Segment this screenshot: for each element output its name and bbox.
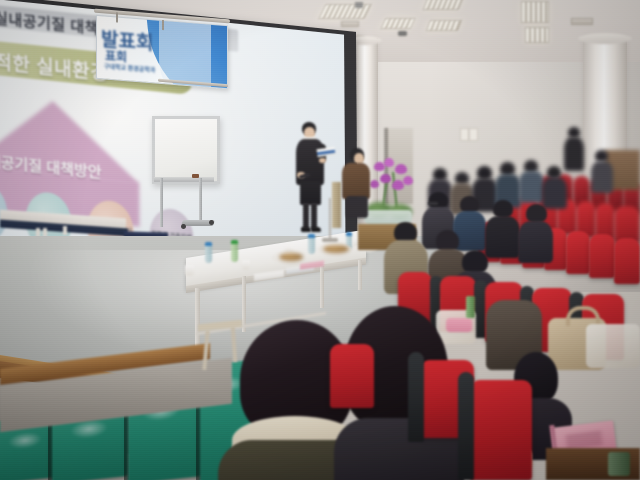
whiteboard-surface[interactable] [152,116,220,184]
plastic-bag[interactable] [586,324,640,368]
light-switch-plate[interactable] [469,128,478,141]
orchid-bloom [395,164,407,174]
column-capital [578,33,632,44]
paper-cup[interactable] [185,265,194,276]
mobile-whiteboard[interactable] [152,116,224,228]
audience-member [520,160,544,206]
paper-cup[interactable] [242,260,250,270]
photograph-auditorium-seminar: 실내공기질 대책방안 쾌적한 실내환경 실내공기질 대책방안 흡연구역 분리설치… [0,0,640,480]
seat-red[interactable] [589,234,615,278]
mic-stand [329,198,331,240]
audience-member [520,204,552,262]
torso [564,137,584,171]
whiteboard-marker-tray [154,177,214,182]
presenter-shoe [301,227,311,232]
whiteboard-caster-icon [181,224,186,229]
ceiling-light-icon [381,18,416,29]
banner-tie-left [116,12,118,22]
wall-bottle-item [63,226,67,235]
orchid-bloom [403,176,413,185]
assistant-coat [342,163,370,199]
ceiling-light-icon [525,27,549,43]
orchid-bloom [380,174,391,183]
table-leg [358,260,362,290]
seat-back-panel [458,372,474,480]
banner-line3-text: 구대학교 환경공학과 [104,61,155,74]
whiteboard-marker[interactable] [192,174,199,178]
water-bottle[interactable] [231,240,238,262]
ceiling-light-icon [521,1,549,23]
event-banner: 발표회 표회 구대학교 환경공학과 [96,13,228,97]
ceiling-mount-icon [355,2,363,8]
ceiling-light-icon [423,0,464,10]
banner-tie-right [162,20,164,30]
audience-member [592,150,614,196]
presenter-hand [319,158,326,163]
ceiling-vent-icon [571,18,593,25]
food-items [279,253,303,261]
light-switch-plate[interactable] [460,128,469,141]
torso [518,221,553,263]
orchid-bloom [384,158,394,167]
seat-red[interactable] [470,380,532,480]
seated-assistant [338,148,378,230]
banner-swoosh-graphic [159,15,211,89]
torso [591,161,613,193]
audience-member [566,127,584,177]
water-bottle[interactable] [205,242,212,263]
whiteboard-leg [160,178,163,227]
whiteboard-leg [199,178,202,222]
handbag-strap [566,306,600,326]
drink-can[interactable] [608,452,630,476]
ceiling-speaker-icon [398,31,407,36]
green-bottle[interactable] [466,296,475,318]
ceiling-vent-icon [341,21,359,27]
table-leg [320,266,324,308]
presenter-booklet[interactable] [317,147,336,157]
seat-red[interactable] [614,238,640,284]
water-bottle[interactable] [308,234,315,254]
assistant-legs [346,196,368,218]
eyeglasses-icon [428,202,438,205]
seat-red[interactable] [330,344,374,408]
folding-chair[interactable] [332,182,341,228]
presenter-legs [303,203,309,229]
presenter-skirt [300,181,321,205]
ceiling-light-icon [318,4,371,19]
seat-red[interactable] [566,231,590,274]
seat-back-panel [408,352,424,442]
presenter-legs [311,203,317,229]
ceiling-light-icon [426,20,462,31]
whiteboard-caster-icon [209,220,214,225]
presenter-shoe [311,227,321,232]
mic-stand-base [322,238,338,242]
torso [519,171,544,203]
food-items [323,245,349,253]
